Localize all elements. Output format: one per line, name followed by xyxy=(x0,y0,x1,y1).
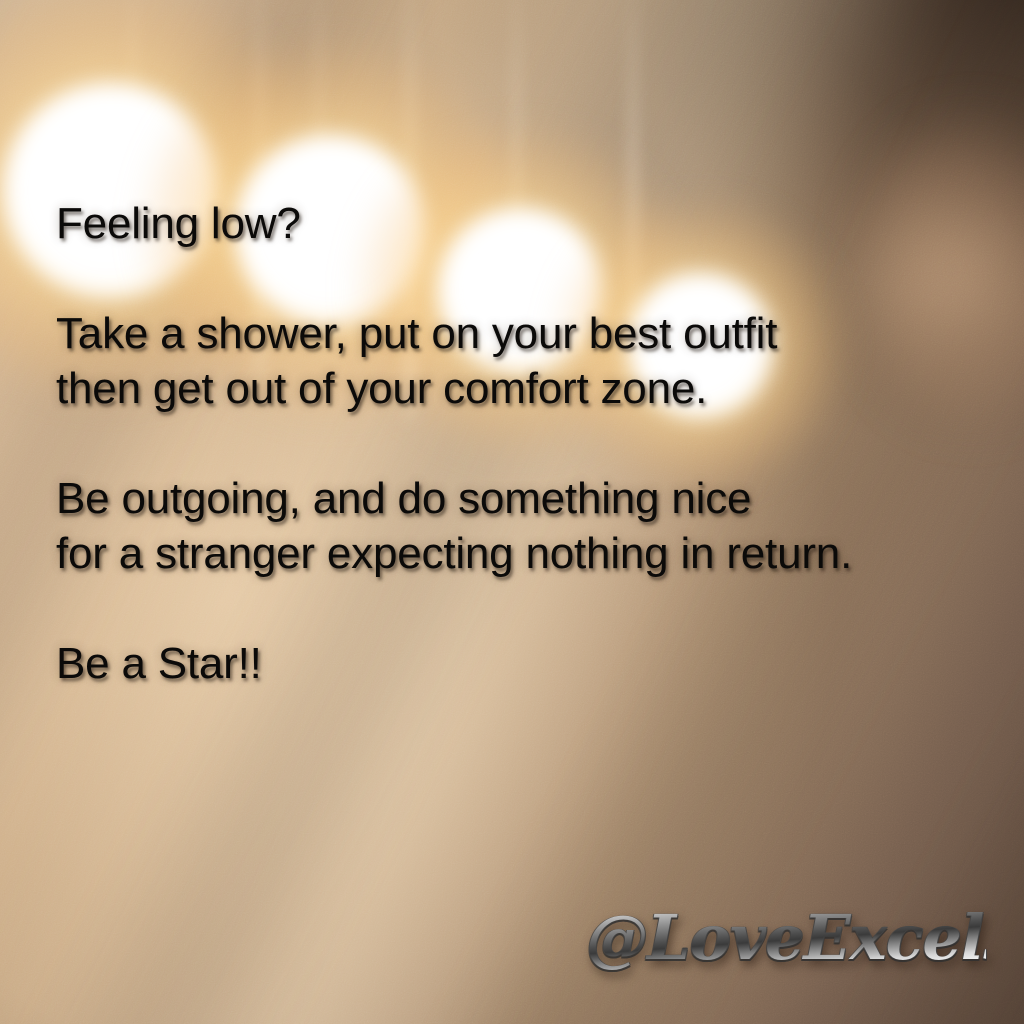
paragraph-advice-two: Be outgoing, and do something nicefor a … xyxy=(56,471,996,581)
quote-image-canvas: Feeling low?Take a shower, put on your b… xyxy=(0,0,1024,1024)
quote-text-block: Feeling low?Take a shower, put on your b… xyxy=(56,196,996,691)
paragraph-advice-one: Take a shower, put on your best outfitth… xyxy=(56,306,996,416)
watermark-handle: @LoveExcelsAll xyxy=(586,900,986,976)
quote-line: then get out of your comfort zone. xyxy=(56,361,996,416)
quote-line: Take a shower, put on your best outfit xyxy=(56,306,996,361)
quote-line: Be a Star!! xyxy=(56,636,996,691)
paragraph-question: Feeling low? xyxy=(56,196,996,251)
quote-line: for a stranger expecting nothing in retu… xyxy=(56,526,996,581)
quote-line: Feeling low? xyxy=(56,196,996,251)
quote-line: Be outgoing, and do something nice xyxy=(56,471,996,526)
paragraph-closing: Be a Star!! xyxy=(56,636,996,691)
